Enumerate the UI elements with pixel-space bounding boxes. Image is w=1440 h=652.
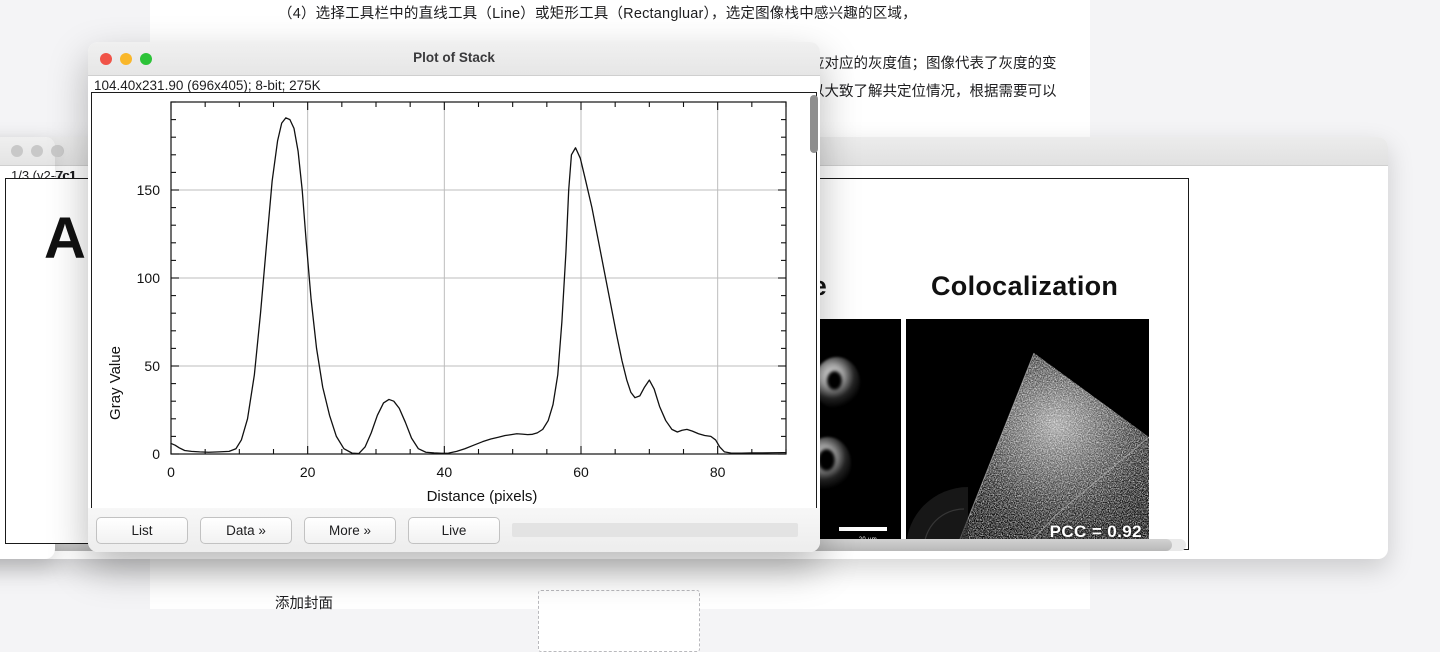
plot-canvas[interactable]: Gray Value 0 50 100 150 0 20 40 60 80 Di… — [91, 92, 817, 510]
scatter-cloud — [906, 319, 1149, 549]
doc-paragraph-3: 以大致了解共定位情况，根据需要可以 — [810, 80, 1100, 101]
y-axis-label: Gray Value — [107, 346, 124, 420]
live-button[interactable]: Live — [408, 517, 500, 544]
profile-plot: Gray Value 0 50 100 150 0 20 40 60 80 Di… — [92, 93, 816, 507]
doc-cover-dropzone[interactable] — [538, 590, 700, 652]
doc-paragraph-1: （4）选择工具栏中的直线工具（Line）或矩形工具（Rectangluar），选… — [278, 2, 1088, 23]
plot-vertical-scrollbar[interactable] — [809, 94, 819, 506]
plot-button-bar: List Data » More » Live — [88, 508, 820, 552]
window-controls-small[interactable] — [11, 145, 63, 157]
svg-text:0: 0 — [152, 446, 160, 462]
svg-text:20: 20 — [300, 464, 316, 480]
plot-progress-bar — [512, 523, 798, 537]
close-icon[interactable] — [11, 145, 23, 157]
plot-scrollbar-thumb[interactable] — [810, 95, 818, 153]
data-button[interactable]: Data » — [200, 517, 292, 544]
preview-letter-a: A — [44, 205, 86, 272]
svg-text:40: 40 — [437, 464, 453, 480]
panel-title-colocalization: Colocalization — [931, 271, 1118, 302]
minimize-icon[interactable] — [31, 145, 43, 157]
small-preview-titlebar[interactable] — [0, 137, 55, 166]
plot-of-stack-window[interactable]: Plot of Stack 104.40x231.90 (696x405); 8… — [88, 42, 820, 552]
svg-text:150: 150 — [137, 182, 161, 198]
svg-text:50: 50 — [144, 358, 160, 374]
image-tile-colocalization[interactable]: PCC = 0.92 — [906, 319, 1149, 549]
small-preview-window[interactable]: 1/3 (v2-7c1 A — [0, 137, 55, 559]
x-axis-label: Distance (pixels) — [427, 488, 538, 505]
doc-cover-label: 添加封面 — [275, 592, 333, 613]
svg-text:100: 100 — [137, 270, 161, 286]
small-preview-canvas[interactable]: A — [5, 178, 89, 544]
svg-text:80: 80 — [710, 464, 726, 480]
svg-text:60: 60 — [573, 464, 589, 480]
svg-text:0: 0 — [167, 464, 175, 480]
window-title: Plot of Stack — [88, 50, 820, 65]
doc-paragraph-2: 应对应的灰度值；图像代表了灰度的变 — [810, 52, 1100, 73]
plot-info-bar: 104.40x231.90 (696x405); 8-bit; 275K — [94, 78, 321, 93]
more-button[interactable]: More » — [304, 517, 396, 544]
zoom-icon[interactable] — [51, 145, 63, 157]
plot-titlebar[interactable]: Plot of Stack — [88, 42, 820, 76]
list-button[interactable]: List — [96, 517, 188, 544]
